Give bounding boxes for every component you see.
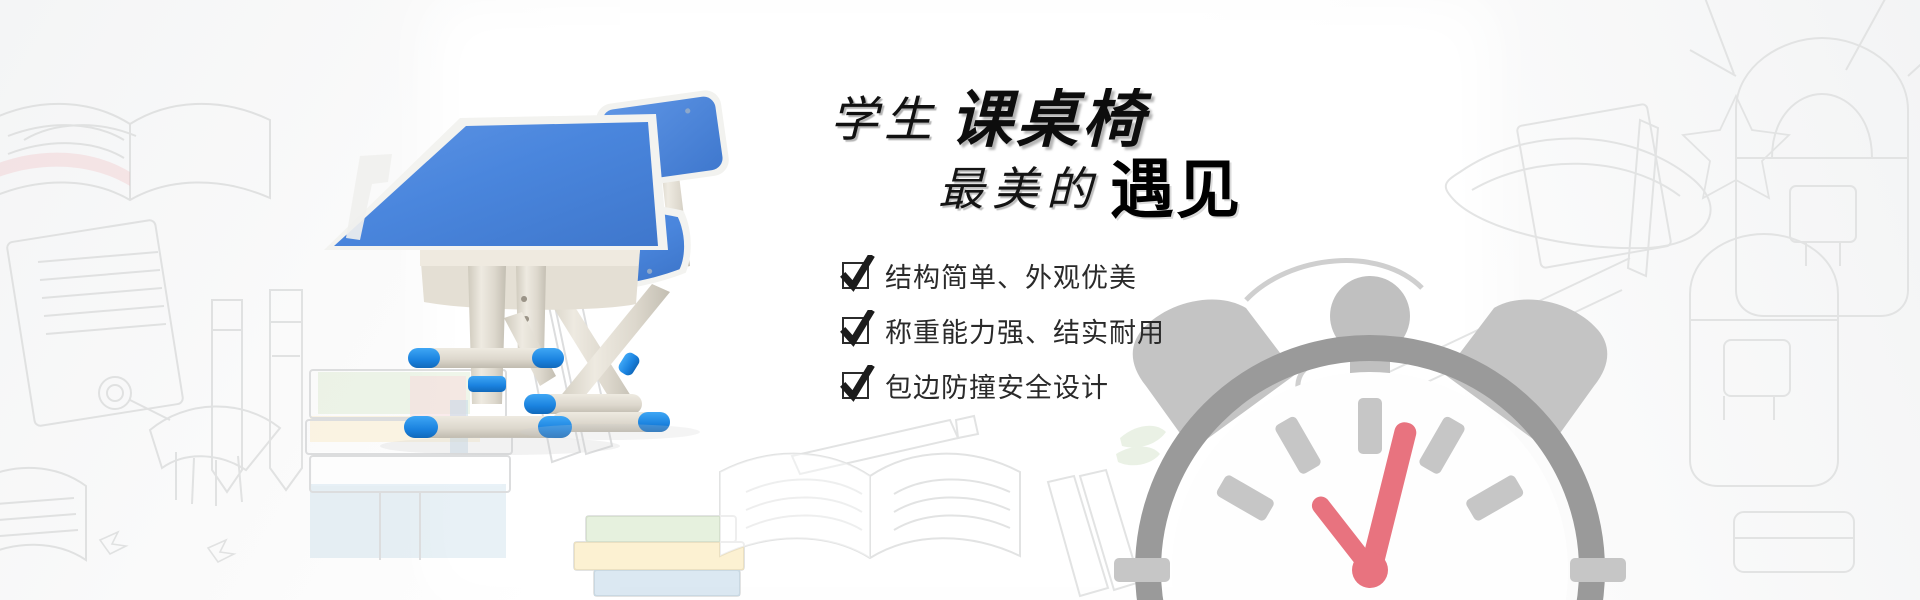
checkmark-icon xyxy=(842,372,869,399)
feature-list: 结构简单、外观优美 称重能力强、结实耐用 包边防撞安全设计 xyxy=(820,256,1360,405)
feature-label: 称重能力强、结实耐用 xyxy=(885,311,1165,350)
feature-label: 结构简单、外观优美 xyxy=(885,256,1137,295)
copy-block: 学生课桌椅 最美的遇见 结构简单、外观优美 称重能力强、结 xyxy=(820,90,1360,421)
headline-line-2: 最美的遇见 xyxy=(938,158,1360,222)
feature-item: 包边防撞安全设计 xyxy=(842,366,1360,405)
checkmark-icon xyxy=(842,317,869,344)
headline-line1-part1: 学生 xyxy=(830,94,938,147)
headline-line-1: 学生课桌椅 xyxy=(830,90,1360,152)
headline-line1-part2: 课桌椅 xyxy=(950,87,1148,155)
headline-line2-part2: 遇见 xyxy=(1110,154,1242,226)
feature-item: 结构简单、外观优美 xyxy=(842,256,1360,295)
checkmark-icon xyxy=(842,262,869,289)
feature-label: 包边防撞安全设计 xyxy=(885,366,1109,405)
headline-line2-part1: 最美的 xyxy=(938,164,1100,215)
promo-banner: 学生课桌椅 最美的遇见 结构简单、外观优美 称重能力强、结 xyxy=(0,0,1920,600)
feature-item: 称重能力强、结实耐用 xyxy=(842,311,1360,350)
product-image-desk-chair xyxy=(300,60,840,460)
